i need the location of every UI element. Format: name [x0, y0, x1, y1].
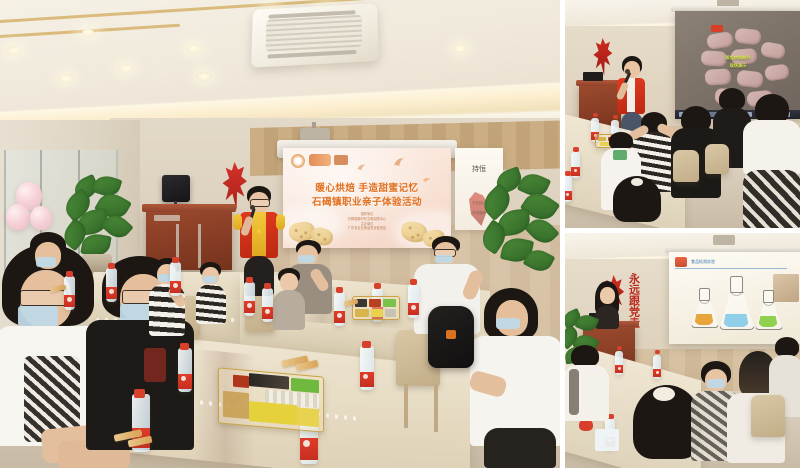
- activity-room: 暖心烘焙 手造甜蜜记忆 石碣镇职业亲子体验活动 指导单位 石碣镇新时代文明实践中…: [0, 0, 560, 468]
- br-room: 食品检测实验: [565, 233, 800, 468]
- ceiling-downlight: [452, 44, 468, 53]
- bottom-right-photo[interactable]: 食品检测实验: [565, 233, 800, 468]
- ceiling-downlight: [58, 74, 74, 83]
- attendee-adult-foreground[interactable]: [470, 288, 560, 468]
- top-right-photo[interactable]: 面包烘焙制作 现场演示: [565, 0, 800, 228]
- snack-basket: [352, 296, 400, 320]
- attendee-toddler[interactable]: [272, 268, 306, 330]
- flask-icon: [691, 288, 717, 326]
- balloon: [6, 204, 30, 230]
- water-bottle: [262, 288, 273, 322]
- br-shoulder-strap: [569, 369, 579, 415]
- podium-top: [142, 204, 236, 212]
- water-bottle: [106, 268, 117, 302]
- backpack-logo: [446, 330, 456, 339]
- br-projector-icon: [713, 235, 735, 245]
- chair-leg: [434, 384, 438, 432]
- br-hair-scrunchie: [653, 387, 675, 401]
- water-bottle: [360, 346, 374, 390]
- event-emblem-icon: [291, 154, 305, 168]
- screen-title-line1: 暖心烘焙 手造甜蜜记忆: [283, 180, 451, 194]
- flask-icon: [719, 276, 753, 328]
- ceiling-downlight: [186, 44, 202, 53]
- sleeve: [276, 214, 285, 230]
- water-bottle: [408, 284, 419, 318]
- balloon: [30, 206, 52, 230]
- tr-laptop: [583, 72, 603, 81]
- water-bottle: [170, 262, 181, 296]
- collage-gutter-vertical: [560, 0, 565, 468]
- br-chair: [751, 395, 785, 437]
- ac-grill: [266, 15, 363, 52]
- photo-collage: 暖心烘焙 手造甜蜜记忆 石碣镇职业亲子体验活动 指导单位 石碣镇新时代文明实践中…: [0, 0, 800, 468]
- br-tissue-box: [595, 429, 619, 451]
- potted-plant: [478, 170, 560, 280]
- podium-nameplate: [154, 215, 180, 221]
- ceiling-downlight: [80, 28, 96, 37]
- striped-shirt: [196, 284, 226, 324]
- attendee-child[interactable]: [196, 262, 226, 324]
- dark-trousers: [484, 428, 556, 468]
- water-bottle: [334, 292, 345, 326]
- snack-basket: [218, 367, 324, 432]
- tr-screen-caption-line2: 现场演示: [675, 63, 800, 69]
- vest-inner-shirt: [252, 212, 266, 256]
- ceiling-downlight: [6, 46, 22, 55]
- screen-title-line2: 石碣镇职业亲子体验活动: [283, 194, 451, 208]
- microphone-head-icon: [250, 205, 255, 210]
- tr-screen-caption-line1: 面包烘焙制作: [675, 55, 800, 61]
- tr-audience-front[interactable]: [609, 176, 665, 228]
- water-bottle: [64, 276, 75, 310]
- tr-chair: [673, 150, 699, 182]
- hair-clip: [631, 178, 643, 186]
- projection-screen[interactable]: 暖心烘焙 手造甜蜜记忆 石碣镇职业亲子体验活动 指导单位 石碣镇新时代文明实践中…: [283, 148, 451, 248]
- dove-icon: [423, 169, 433, 176]
- event-badge-icon: [334, 155, 348, 165]
- tr-audience-member[interactable]: [743, 94, 800, 228]
- ac-vent: [267, 50, 356, 59]
- collage-gutter-horizontal: [565, 228, 800, 233]
- br-slide-logo-icon: [675, 257, 687, 267]
- event-wordmark-icon: [309, 154, 331, 166]
- br-projection-screen[interactable]: 食品检测实验: [669, 252, 800, 344]
- water-bottle: [244, 282, 255, 316]
- br-slide-title: 食品检测实验: [691, 259, 715, 265]
- chair-leg: [404, 384, 408, 428]
- water-bottle: [178, 348, 192, 392]
- pa-speaker-icon: [162, 175, 190, 202]
- sleeve: [233, 214, 242, 230]
- air-conditioner-icon: [251, 3, 379, 67]
- flask-icon: [755, 290, 781, 328]
- live-tag-icon: [711, 25, 723, 32]
- dove-icon: [354, 157, 365, 166]
- tr-chair: [705, 144, 729, 174]
- ceiling-downlight: [196, 72, 212, 81]
- tr-room: 面包烘焙制作 现场演示: [565, 0, 800, 228]
- br-slide-rule: [675, 268, 787, 269]
- br-audience-member[interactable]: [565, 345, 609, 425]
- ceiling-downlight: [118, 64, 134, 73]
- main-photo[interactable]: 暖心烘焙 手造甜蜜记忆 石碣镇职业亲子体验活动 指导单位 石碣镇新时代文明实践中…: [0, 0, 560, 468]
